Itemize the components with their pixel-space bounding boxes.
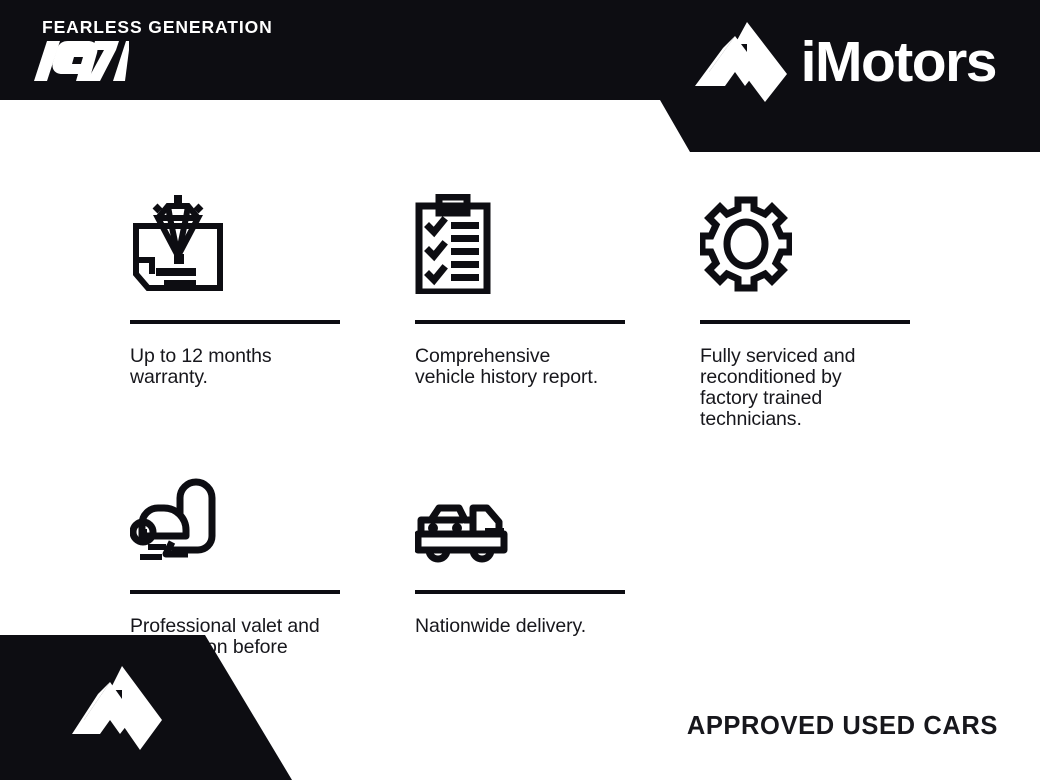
features-row-2: Professional valet and preparation befor… xyxy=(130,466,920,679)
brand-name: iMotors xyxy=(801,34,996,91)
feature-item-warranty: Up to 12 months warranty. xyxy=(130,186,415,388)
footer-tagline: APPROVED USED CARS xyxy=(687,714,998,740)
imotors-chevron-logo-icon xyxy=(72,666,162,762)
footer-logo xyxy=(72,666,162,762)
feature-label-history-report: Comprehensive vehicle history report. xyxy=(415,346,605,388)
feature-item-serviced: Fully serviced and reconditioned by fact… xyxy=(700,186,985,430)
poster-canvas: FEARLESS GENERATION xyxy=(0,0,1040,780)
feature-label-delivery: Nationwide delivery. xyxy=(415,616,605,637)
warranty-certificate-icon xyxy=(130,186,415,294)
gear-cog-icon xyxy=(700,186,985,294)
features-row-1: Up to 12 months warranty. xyxy=(130,186,920,430)
header-tagline: FEARLESS GENERATION xyxy=(42,19,273,37)
feature-divider xyxy=(415,320,625,324)
feature-divider xyxy=(130,320,340,324)
header-logo-group: iMotors xyxy=(695,22,996,102)
feature-label-warranty: Up to 12 months warranty. xyxy=(130,346,320,388)
imotors-chevron-logo-icon xyxy=(695,22,787,102)
feature-item-delivery: Nationwide delivery. xyxy=(415,466,700,637)
feature-item-valet: Professional valet and preparation befor… xyxy=(130,466,415,679)
car-transporter-truck-icon xyxy=(415,466,700,564)
checklist-clipboard-icon xyxy=(415,186,700,294)
vacuum-cleaner-icon xyxy=(130,466,415,564)
feature-label-serviced: Fully serviced and reconditioned by fact… xyxy=(700,346,890,430)
features-grid: Up to 12 months warranty. xyxy=(130,186,920,679)
feature-divider xyxy=(130,590,340,594)
feature-item-history-report: Comprehensive vehicle history report. xyxy=(415,186,700,388)
year-logo-1971 xyxy=(33,37,129,85)
feature-divider xyxy=(415,590,625,594)
feature-divider xyxy=(700,320,910,324)
